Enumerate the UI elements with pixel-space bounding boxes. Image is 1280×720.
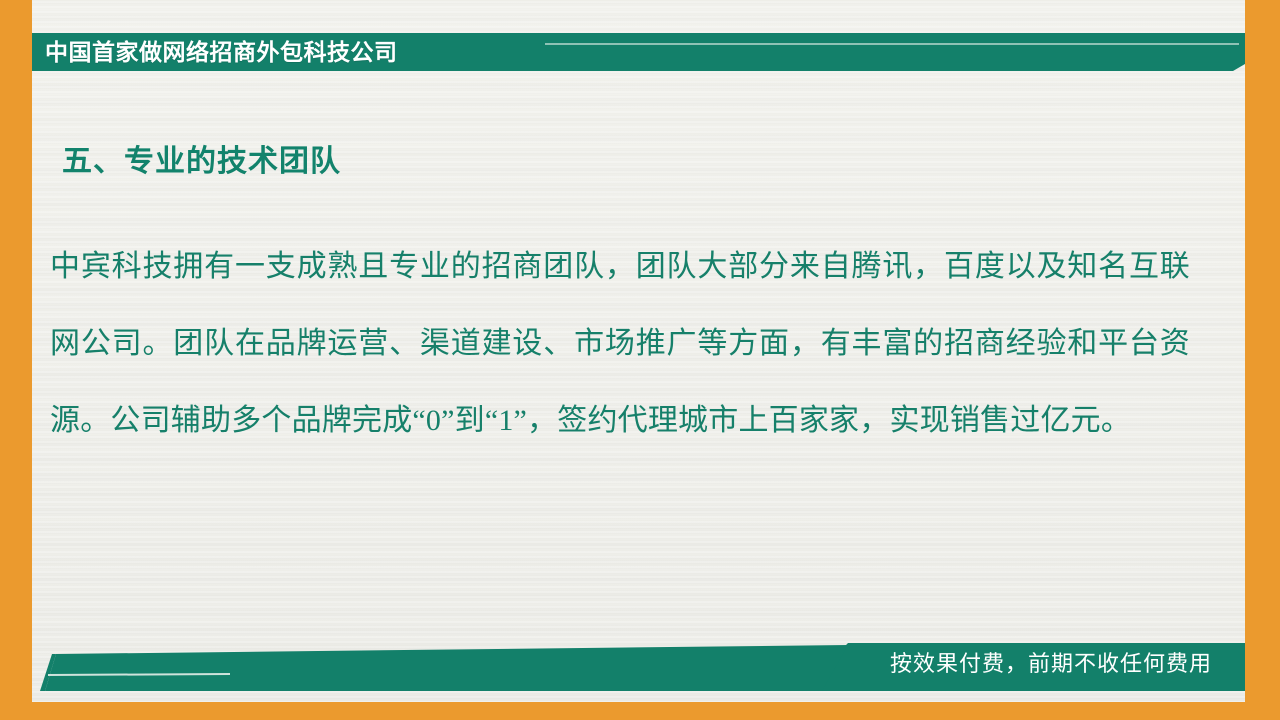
slide-canvas: 中国首家做网络招商外包科技公司 五、专业的技术团队 中宾科技拥有一支成熟且专业的… bbox=[0, 0, 1280, 720]
section-heading: 五、专业的技术团队 bbox=[62, 136, 341, 180]
header-title: 中国首家做网络招商外包科技公司 bbox=[45, 36, 398, 68]
body-paragraph: 中宾科技拥有一支成熟且专业的招商团队，团队大部分来自腾讯，百度以及知名互联网公司… bbox=[50, 228, 1190, 459]
footer-tagline: 按效果付费，前期不收任何费用 bbox=[890, 646, 1212, 682]
